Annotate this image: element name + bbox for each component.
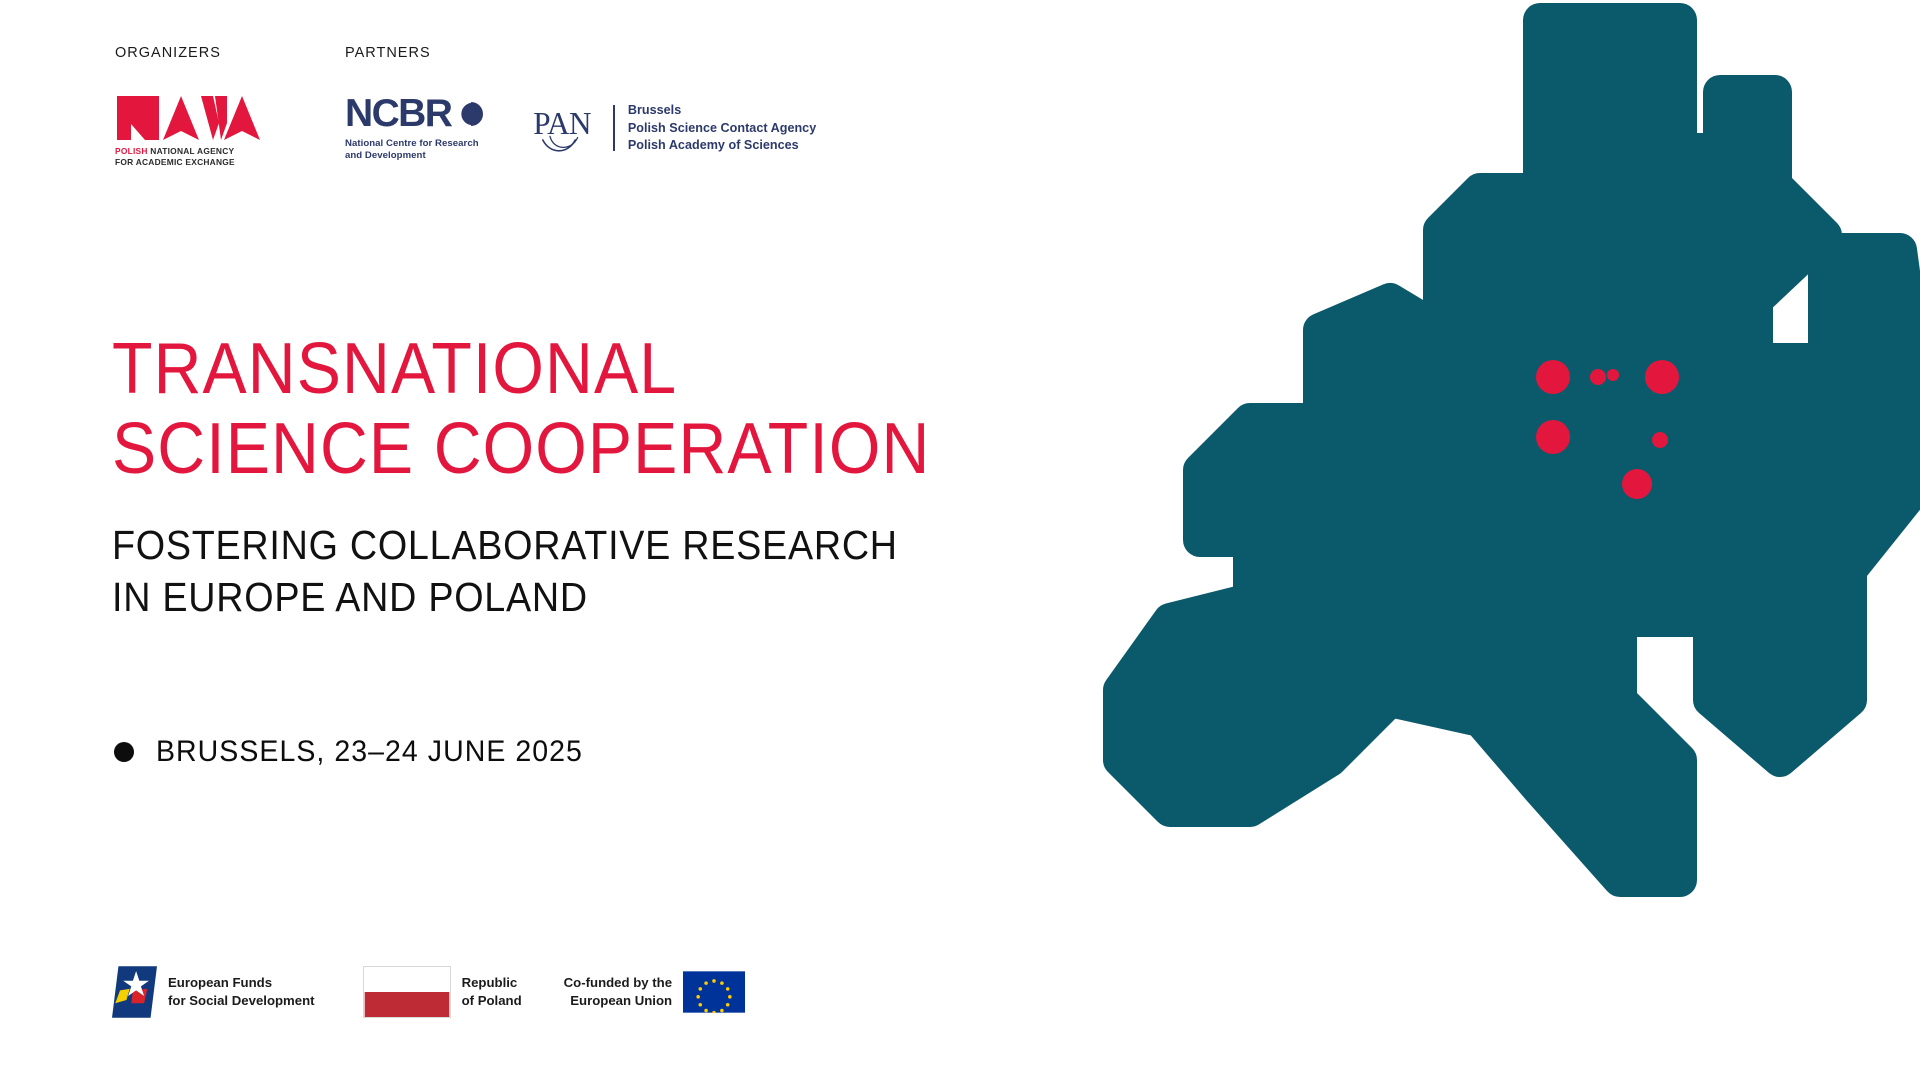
pan-wordmark-icon: PAN <box>532 99 604 157</box>
european-union-flag-icon <box>683 971 745 1013</box>
pan-logo: PAN Brussels Polish Science Contact Agen… <box>532 99 816 157</box>
funding-logos: European Funds for Social Development Re… <box>112 966 745 1018</box>
co-funded-eu-logo: Co-funded by the European Union <box>564 971 745 1013</box>
page-title: TRANSNATIONAL SCIENCE COOPERATION <box>112 330 1032 490</box>
page-subtitle: FOSTERING COLLABORATIVE RESEARCH IN EURO… <box>112 520 1032 623</box>
organizers-logos: POLISH NATIONAL AGENCY FOR ACADEMIC EXCH… <box>115 94 260 168</box>
poland-flag-icon <box>363 966 451 1018</box>
event-location-date: BRUSSELS, 23–24 JUNE 2025 <box>114 735 605 769</box>
european-funds-line2: for Social Development <box>168 993 315 1008</box>
ncbr-tagline-line1: National Centre for Research <box>345 138 479 149</box>
nawa-tagline-rest: NATIONAL AGENCY <box>148 146 235 156</box>
ncbr-sphere-icon <box>458 101 484 127</box>
nawa-tagline: POLISH NATIONAL AGENCY FOR ACADEMIC EXCH… <box>115 146 260 168</box>
map-marker <box>1590 369 1606 385</box>
republic-of-poland-line2: of Poland <box>462 993 522 1008</box>
nawa-wordmark-icon <box>115 94 260 140</box>
ncbr-wordmark: NCBR <box>345 94 451 133</box>
subtitle-line-2: IN EUROPE AND POLAND <box>112 572 958 624</box>
bullet-dot-icon <box>114 742 134 762</box>
co-funded-eu-text: Co-funded by the European Union <box>564 974 672 1010</box>
co-funded-eu-line2: European Union <box>570 993 672 1008</box>
pan-text-line2: Polish Science Contact Agency <box>628 121 816 135</box>
partners-label: PARTNERS <box>345 45 816 61</box>
republic-of-poland-text: Republic of Poland <box>462 974 522 1010</box>
nawa-tagline-line2: FOR ACADEMIC EXCHANGE <box>115 157 235 167</box>
europe-map-svg <box>920 0 1920 1080</box>
nawa-logo: POLISH NATIONAL AGENCY FOR ACADEMIC EXCH… <box>115 94 260 168</box>
map-marker <box>1536 420 1570 454</box>
nawa-tagline-highlight: POLISH <box>115 146 148 156</box>
partners-group: PARTNERS NCBR <box>345 45 816 163</box>
event-location-date-text: BRUSSELS, 23–24 JUNE 2025 <box>156 735 583 769</box>
co-funded-eu-line1: Co-funded by the <box>564 975 672 990</box>
europe-map-illustration <box>920 0 1920 1080</box>
organizers-label: ORGANIZERS <box>115 45 260 61</box>
map-marker <box>1652 432 1668 448</box>
pan-text-line3: Polish Academy of Sciences <box>628 138 799 152</box>
ncbr-tagline: National Centre for Research and Develop… <box>345 138 484 163</box>
svg-text:PAN: PAN <box>533 106 591 141</box>
map-landmass <box>1120 20 1920 880</box>
republic-of-poland-line1: Republic <box>462 975 518 990</box>
european-funds-text: European Funds for Social Development <box>168 974 315 1010</box>
map-marker <box>1645 360 1679 394</box>
title-line-1: TRANSNATIONAL <box>112 330 958 410</box>
ncbr-logo: NCBR National Centre for Research and De… <box>345 94 484 163</box>
map-marker <box>1536 360 1570 394</box>
title-line-2: SCIENCE COOPERATION <box>112 410 958 490</box>
republic-of-poland-logo: Republic of Poland <box>363 966 522 1018</box>
organizers-group: ORGANIZERS POLISH NATIONAL AGE <box>115 45 260 168</box>
partners-logos: NCBR National Centre for Research and De… <box>345 94 816 163</box>
pan-text-line1: Brussels <box>628 103 681 117</box>
pan-text: Brussels Polish Science Contact Agency P… <box>628 102 816 156</box>
map-markers <box>1536 360 1679 499</box>
ncbr-mark: NCBR <box>345 94 484 133</box>
map-marker <box>1607 369 1619 381</box>
subtitle-line-1: FOSTERING COLLABORATIVE RESEARCH <box>112 520 958 572</box>
logo-band: ORGANIZERS POLISH NATIONAL AGE <box>115 45 816 168</box>
ncbr-tagline-line2: and Development <box>345 150 426 161</box>
pan-divider <box>613 105 615 151</box>
european-funds-logo: European Funds for Social Development <box>112 966 315 1018</box>
map-marker <box>1622 469 1652 499</box>
european-funds-flag-icon <box>112 966 157 1018</box>
european-funds-line1: European Funds <box>168 975 272 990</box>
